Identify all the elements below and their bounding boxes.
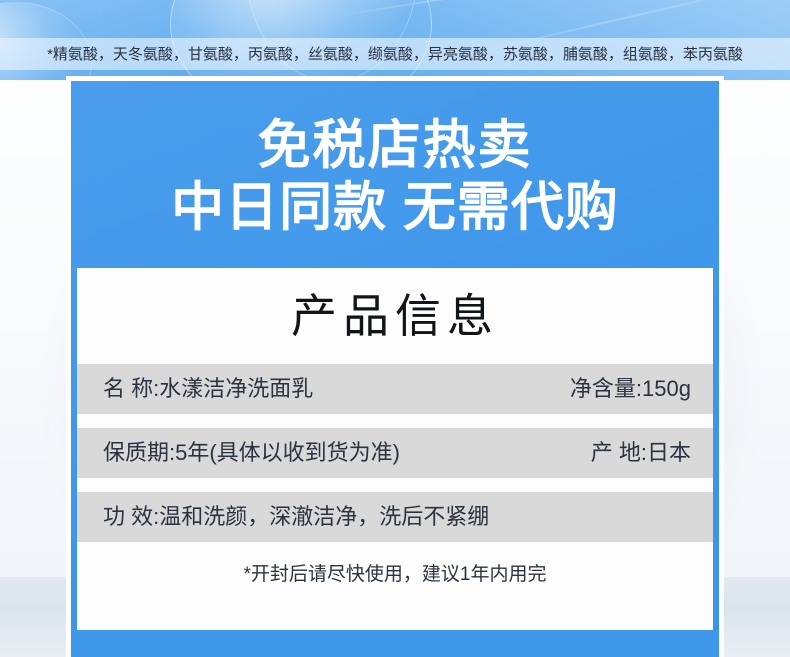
light-streak-icon [520, 0, 790, 2]
spec-cell-right: 净含量:150g [570, 378, 691, 400]
promo-banner: 免税店热卖 中日同款 无需代购 [71, 81, 719, 268]
ingredients-text: *精氨酸，天冬氨酸，甘氨酸，丙氨酸，丝氨酸，缬氨酸，异亮氨酸，苏氨酸，脯氨酸，组… [47, 47, 743, 62]
spec-label: 产 地: [591, 442, 647, 464]
spec-label: 净含量: [570, 378, 642, 400]
spec-row: 名 称:水漾洁净洗面乳 净含量:150g [77, 364, 713, 414]
usage-note: *开封后请尽快使用，建议1年内用完 [77, 542, 713, 606]
spec-value: 5年(具体以收到货为准) [175, 442, 400, 464]
promo-headline-line-1: 免税店热卖 [258, 115, 533, 177]
card-bottom-blue-strip [71, 630, 719, 657]
promo-headline-line-2: 中日同款 无需代购 [171, 177, 619, 239]
ingredients-strip: *精氨酸，天冬氨酸，甘氨酸，丙氨酸，丝氨酸，缬氨酸，异亮氨酸，苏氨酸，脯氨酸，组… [0, 38, 790, 70]
spec-label: 名 称: [103, 378, 159, 400]
panel-title-text: 产品信息 [291, 293, 499, 339]
spec-value: 150g [642, 378, 691, 400]
panel-title: 产品信息 [77, 268, 713, 364]
spec-value: 水漾洁净洗面乳 [159, 378, 313, 400]
spec-row: 保质期:5年(具体以收到货为准) 产 地:日本 [77, 428, 713, 478]
spec-row: 功 效:温和洗颜，深澈洁净，洗后不紧绷 [77, 492, 713, 542]
spec-label: 保质期: [103, 442, 175, 464]
spec-label: 功 效: [103, 506, 159, 528]
spec-cell-left: 保质期:5年(具体以收到货为准) [103, 442, 400, 464]
spec-row-divider [77, 478, 713, 492]
card-blue-frame: 免税店热卖 中日同款 无需代购 产品信息 名 称:水漾洁净洗面乳 净含量:150… [71, 81, 719, 657]
spec-cell-left: 功 效:温和洗颜，深澈洁净，洗后不紧绷 [103, 506, 489, 528]
spec-cell-right: 产 地:日本 [591, 442, 691, 464]
spec-value: 温和洗颜，深澈洁净，洗后不紧绷 [159, 506, 489, 528]
product-info-graphic: *精氨酸，天冬氨酸，甘氨酸，丙氨酸，丝氨酸，缬氨酸，异亮氨酸，苏氨酸，脯氨酸，组… [0, 0, 790, 657]
spec-row-divider [77, 414, 713, 428]
product-card: 免税店热卖 中日同款 无需代购 产品信息 名 称:水漾洁净洗面乳 净含量:150… [66, 76, 724, 657]
spec-cell-left: 名 称:水漾洁净洗面乳 [103, 378, 313, 400]
spec-value: 日本 [647, 442, 691, 464]
usage-note-text: *开封后请尽快使用，建议1年内用完 [244, 565, 547, 584]
product-info-panel: 产品信息 名 称:水漾洁净洗面乳 净含量:150g 保质期: [77, 268, 713, 630]
